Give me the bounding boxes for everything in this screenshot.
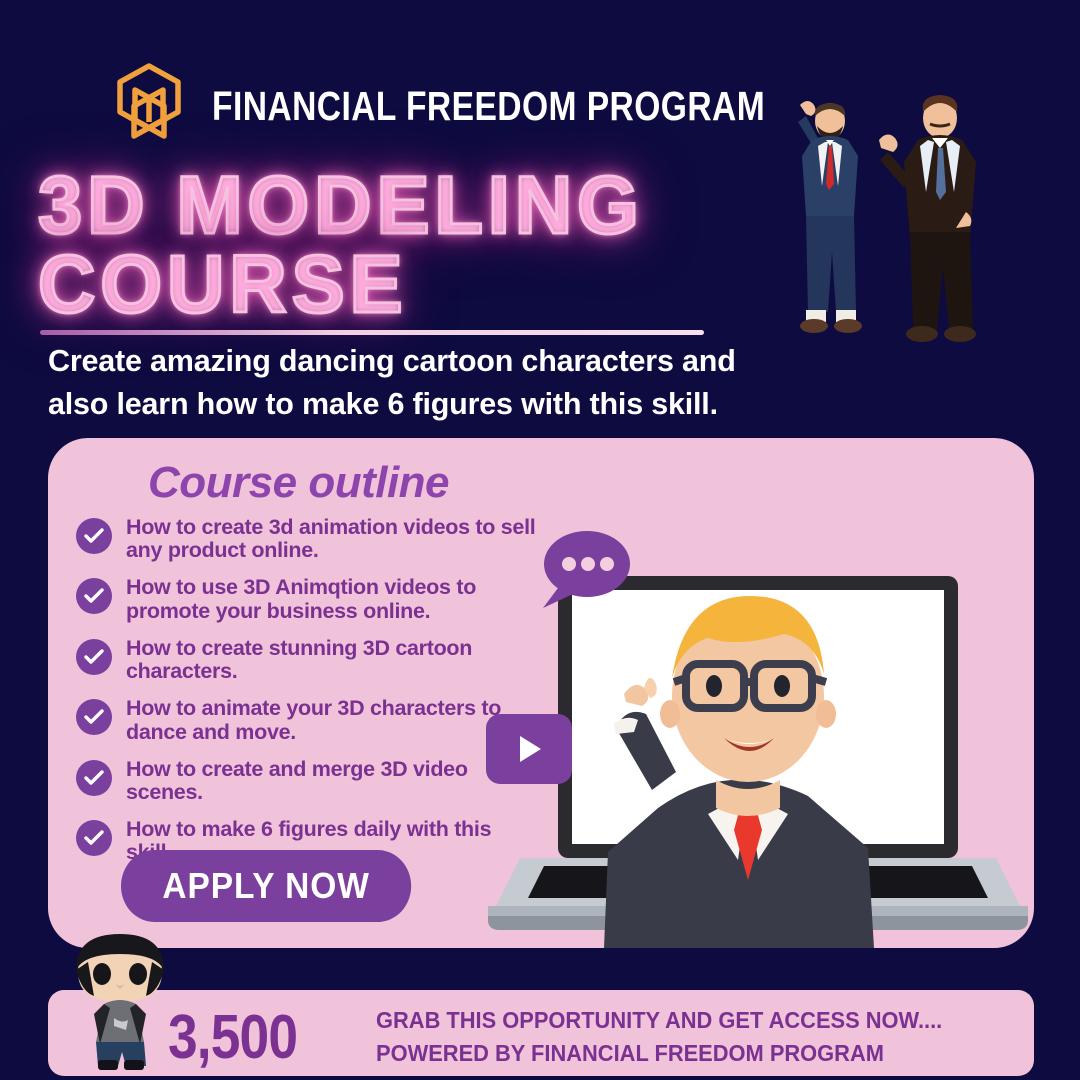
check-icon — [76, 760, 112, 796]
check-icon — [76, 699, 112, 735]
hero-title-line-1: 3D MODELING — [38, 168, 717, 243]
apply-now-button[interactable]: APPLY NOW — [121, 850, 411, 922]
check-icon — [76, 820, 112, 856]
brand-name: FINANCIAL FREEDOM PROGRAM — [212, 83, 765, 130]
footer-bar: 3,500 GRAB THIS OPPORTUNITY AND GET ACCE… — [48, 990, 1034, 1076]
check-icon — [76, 578, 112, 614]
hero-divider — [40, 330, 704, 335]
play-button[interactable] — [486, 714, 572, 784]
chat-bubble-icon — [531, 526, 636, 612]
hero-title: 3D MODELING COURSE — [38, 168, 738, 323]
hero-title-line-2: COURSE — [38, 247, 717, 322]
businessman-thumbs-up-icon — [879, 95, 976, 342]
course-card: Course outline How to create 3d animatio… — [48, 438, 1034, 948]
footer-text: GRAB THIS OPPORTUNITY AND GET ACCESS NOW… — [376, 1004, 985, 1071]
play-icon — [512, 732, 546, 766]
footer-line-2: POWERED BY FINANCIAL FREEDOM PROGRAM — [376, 1037, 942, 1070]
course-outline-heading: Course outline — [148, 458, 449, 508]
laptop-with-presenter-illustration — [448, 428, 1048, 948]
businessman-raised-fist-icon — [798, 101, 862, 333]
price-value: 3,500 — [168, 1002, 297, 1073]
businessmen-illustration — [762, 72, 1024, 368]
hero-subtitle: Create amazing dancing cartoon character… — [48, 340, 748, 427]
footer-line-1: GRAB THIS OPPORTUNITY AND GET ACCESS NOW… — [376, 1004, 942, 1037]
check-icon — [76, 639, 112, 675]
funko-figure-icon — [56, 928, 184, 1076]
check-icon — [76, 518, 112, 554]
hexagon-knot-logo-icon — [108, 60, 190, 152]
